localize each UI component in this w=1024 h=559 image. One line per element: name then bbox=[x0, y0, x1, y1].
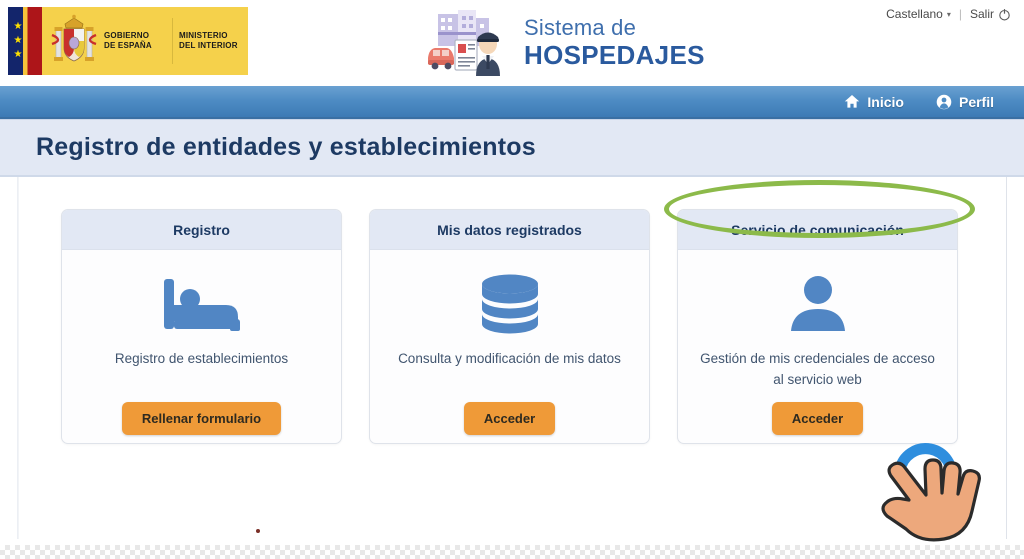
gobierno-line2: DE ESPAÑA bbox=[104, 41, 152, 50]
brand-line-2: HOSPEDAJES bbox=[524, 42, 705, 68]
card-mis-datos-title: Mis datos registrados bbox=[437, 222, 582, 238]
eu-stars: ★★★ bbox=[12, 20, 24, 62]
page-title: Registro de entidades y establecimientos bbox=[36, 133, 536, 162]
acceder-servicio-button[interactable]: Acceder bbox=[772, 402, 863, 435]
power-icon bbox=[998, 8, 1010, 20]
utility-separator: | bbox=[959, 7, 962, 21]
gobierno-de-espana-logo: ★★★ bbox=[8, 7, 248, 75]
card-registro-title: Registro bbox=[173, 222, 230, 238]
card-mis-datos-description: Consulta y modificación de mis datos bbox=[398, 348, 621, 390]
card-servicio-header: Servicio de comunicación bbox=[678, 210, 957, 250]
ministerio-line2: DEL INTERIOR bbox=[179, 41, 238, 50]
card-registro-header: Registro bbox=[62, 210, 341, 250]
nav-item-inicio[interactable]: Inicio bbox=[844, 94, 904, 110]
spain-eu-flag-icon: ★★★ bbox=[8, 7, 42, 75]
user-circle-icon bbox=[936, 94, 952, 110]
chevron-down-icon: ▾ bbox=[947, 10, 951, 19]
card-mis-datos[interactable]: Mis datos registrados Consulta y modific… bbox=[369, 209, 650, 444]
nav-item-perfil[interactable]: Perfil bbox=[936, 94, 994, 110]
card-mis-datos-body: Consulta y modificación de mis datos Acc… bbox=[370, 250, 649, 443]
logo-yellow-panel: GOBIERNO DE ESPAÑA MINISTERIO DEL INTERI… bbox=[42, 7, 248, 75]
nav-label-perfil: Perfil bbox=[959, 94, 994, 110]
card-servicio-body: Gestión de mis credenciales de acceso al… bbox=[678, 250, 957, 443]
language-selector[interactable]: Castellano ▾ bbox=[886, 7, 951, 21]
brand-text: Sistema de HOSPEDAJES bbox=[524, 17, 705, 68]
card-grid: Registro Registro de esta bbox=[61, 209, 974, 444]
card-servicio-title: Servicio de comunicación bbox=[731, 222, 904, 238]
card-servicio-comunicacion[interactable]: Servicio de comunicación Gestión de mis … bbox=[677, 209, 958, 444]
user-icon bbox=[785, 268, 851, 340]
page-title-band: Registro de entidades y establecimientos bbox=[0, 119, 1024, 177]
logout-button[interactable]: Salir bbox=[970, 7, 1010, 21]
card-servicio-description: Gestión de mis credenciales de acceso al… bbox=[696, 348, 939, 390]
card-registro-body: Registro de establecimientos Rellenar fo… bbox=[62, 250, 341, 443]
main-navbar: Inicio Perfil bbox=[0, 86, 1024, 119]
language-label: Castellano bbox=[886, 7, 943, 21]
ministerio-line1: MINISTERIO bbox=[179, 31, 228, 40]
ministerio-label: MINISTERIO DEL INTERIOR bbox=[179, 31, 238, 51]
card-registro[interactable]: Registro Registro de esta bbox=[61, 209, 342, 444]
hotel-car-officer-id-illustration bbox=[424, 8, 514, 76]
transparency-checker-strip bbox=[0, 545, 1024, 559]
content-panel: Registro Registro de esta bbox=[17, 177, 1007, 539]
app-screenshot: ★★★ bbox=[0, 0, 1024, 559]
logout-label: Salir bbox=[970, 7, 994, 21]
bed-icon bbox=[160, 268, 244, 340]
content-shell: Registro Registro de esta bbox=[0, 177, 1024, 539]
gobierno-line1: GOBIERNO bbox=[104, 31, 149, 40]
spain-coat-of-arms-icon bbox=[48, 13, 100, 69]
home-icon bbox=[844, 94, 860, 109]
red-marker-dot bbox=[256, 529, 260, 533]
nav-label-inicio: Inicio bbox=[867, 94, 904, 110]
acceder-mis-datos-button[interactable]: Acceder bbox=[464, 402, 555, 435]
site-header: ★★★ bbox=[0, 0, 1024, 86]
brand-logo: Sistema de HOSPEDAJES bbox=[424, 8, 705, 76]
database-icon bbox=[477, 268, 543, 340]
card-mis-datos-header: Mis datos registrados bbox=[370, 210, 649, 250]
gobierno-label: GOBIERNO DE ESPAÑA bbox=[104, 31, 166, 51]
header-utility-bar: Castellano ▾ | Salir bbox=[886, 7, 1010, 21]
logo-divider bbox=[172, 18, 173, 64]
rellenar-formulario-button[interactable]: Rellenar formulario bbox=[122, 402, 281, 435]
card-registro-description: Registro de establecimientos bbox=[115, 348, 288, 390]
brand-line-1: Sistema de bbox=[524, 17, 705, 39]
